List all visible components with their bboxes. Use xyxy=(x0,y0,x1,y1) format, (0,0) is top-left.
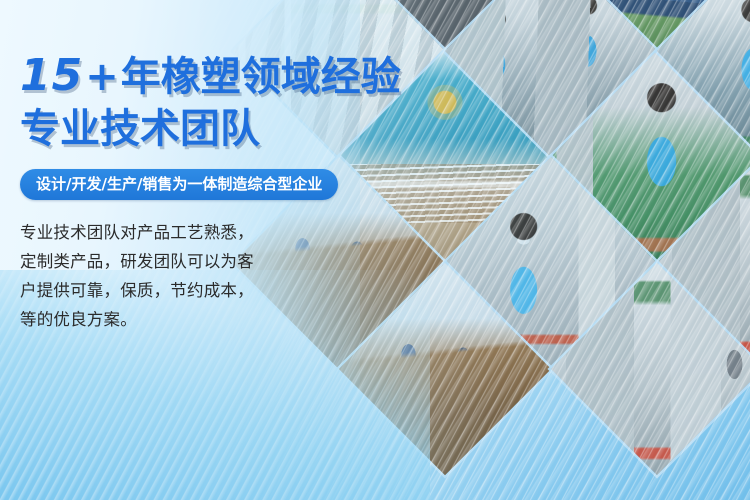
years-number: 15 xyxy=(20,50,85,101)
headline-line-1-rest: 年橡塑领域经验 xyxy=(121,54,401,100)
headline-line-2: 专业技术团队 xyxy=(20,103,400,155)
headline-text-block: 15+年橡塑领域经验 专业技术团队 设计/开发/生产/销售为一体制造综合型企业 … xyxy=(0,0,400,500)
headline-line-1: 15+年橡塑领域经验 xyxy=(20,50,400,103)
plus-symbol: + xyxy=(85,54,121,100)
tagline-pill[interactable]: 设计/开发/生产/销售为一体制造综合型企业 xyxy=(20,169,338,200)
body-paragraph: 专业技术团队对产品工艺熟悉，定制类产品，研发团队可以为客户提供可靠，保质，节约成… xyxy=(20,218,270,334)
promo-banner: 15+年橡塑领域经验 专业技术团队 设计/开发/生产/销售为一体制造综合型企业 … xyxy=(0,0,750,500)
